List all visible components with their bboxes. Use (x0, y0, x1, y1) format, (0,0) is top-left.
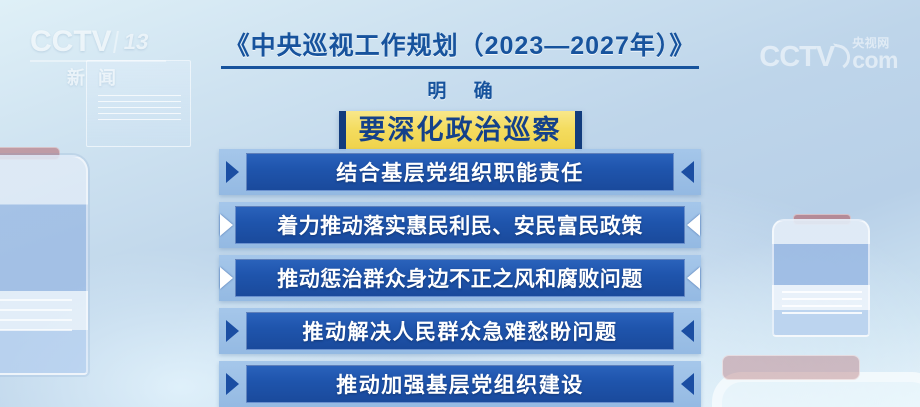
list-item-label: 推动惩治群众身边不正之风和腐败问题 (277, 263, 643, 293)
chevron-right-icon (226, 373, 239, 395)
chevron-left-icon (687, 267, 700, 289)
list-item: 推动加强基层党组织建设 (0, 358, 920, 407)
list-item-frame: 结合基层党组织职能责任 (219, 149, 701, 195)
list-item-frame: 推动解决人民群众急难愁盼问题 (219, 308, 701, 354)
list-item-bar: 结合基层党组织职能责任 (246, 153, 674, 191)
page-title: 《中央巡视工作规划（2023—2027年）》 (221, 26, 700, 69)
list-item-label: 着力推动落实惠民利民、安民富民政策 (277, 210, 643, 240)
list-item-frame: 推动加强基层党组织建设 (219, 361, 701, 407)
list-item: 着力推动落实惠民利民、安民富民政策 (0, 199, 920, 251)
list-item-bar: 推动解决人民群众急难愁盼问题 (246, 312, 674, 350)
list-item-label: 推动解决人民群众急难愁盼问题 (303, 316, 618, 346)
list-item: 结合基层党组织职能责任 (0, 146, 920, 198)
chevron-left-icon (687, 214, 700, 236)
list-item-frame: 着力推动落实惠民利民、安民富民政策 (219, 202, 701, 248)
list-item-bar: 推动加强基层党组织建设 (246, 365, 674, 403)
banner-text: 要深化政治巡察 (359, 115, 562, 145)
chevron-left-icon (681, 320, 694, 342)
chevron-right-icon (220, 214, 233, 236)
chevron-right-icon (226, 161, 239, 183)
list-item: 推动惩治群众身边不正之风和腐败问题 (0, 252, 920, 304)
measures-list: 结合基层党组织职能责任 着力推动落实惠民利民、安民富民政策 推动惩治群众身边不正… (0, 146, 920, 407)
headline-subtitle: 明 确 (0, 76, 920, 103)
list-item: 推动解决人民群众急难愁盼问题 (0, 305, 920, 357)
chevron-right-icon (220, 267, 233, 289)
chevron-left-icon (681, 373, 694, 395)
list-item-bar: 着力推动落实惠民利民、安民富民政策 (235, 206, 685, 244)
headline-block: 《中央巡视工作规划（2023—2027年）》 明 确 要深化政治巡察 (0, 26, 920, 156)
list-item-label: 结合基层党组织职能责任 (336, 157, 584, 187)
chevron-right-icon (226, 320, 239, 342)
list-item-bar: 推动惩治群众身边不正之风和腐败问题 (235, 259, 685, 297)
list-item-label: 推动加强基层党组织建设 (336, 369, 584, 399)
list-item-frame: 推动惩治群众身边不正之风和腐败问题 (219, 255, 701, 301)
chevron-left-icon (681, 161, 694, 183)
